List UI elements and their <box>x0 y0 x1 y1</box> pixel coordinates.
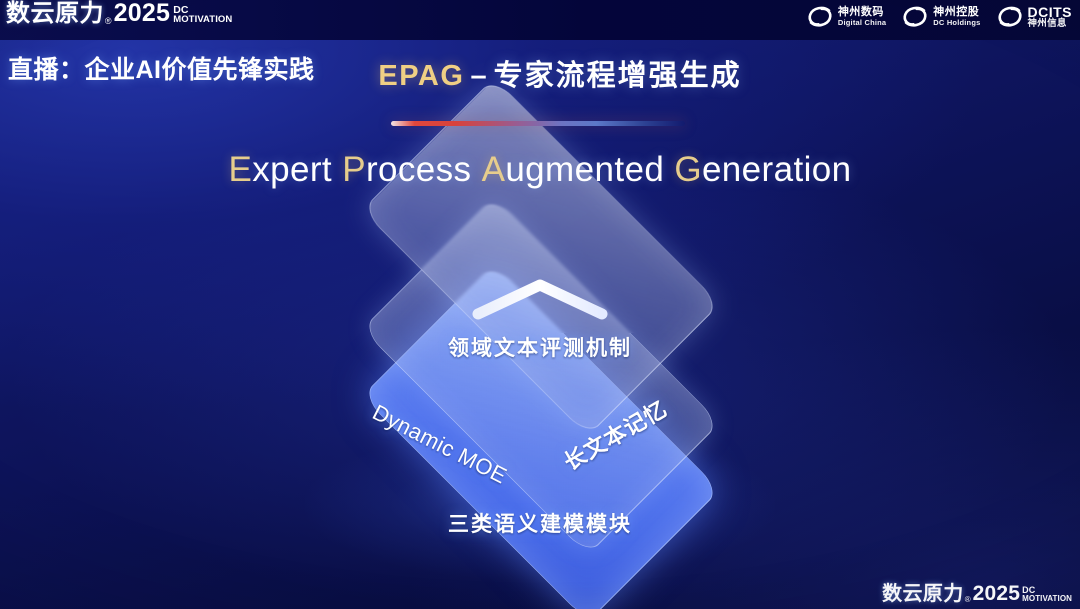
slide-canvas: 领域文本评测机制 Dynamic MOE 长文本记忆 三类语义建模模块 EPAG… <box>0 0 1080 609</box>
brand-logo-tagline: DC MOTIVATION <box>173 5 232 26</box>
partner-text-1: 神州控股DC Holdings <box>933 7 980 26</box>
subtitle-word-2: ugmented <box>505 150 674 189</box>
watermark-motivation: MOTIVATION <box>1022 594 1072 603</box>
watermark-cn: 数云原力 <box>882 584 964 604</box>
brand-logo-motivation: MOTIVATION <box>173 14 232 25</box>
partner-text-2: DCITS神州信息 <box>1028 5 1073 30</box>
title-divider <box>391 121 685 126</box>
subtitle-initial-a: A <box>482 150 506 189</box>
live-strap: 直播：企业AI价值先锋实践 <box>8 50 315 86</box>
title-dash: – <box>470 60 487 92</box>
brand-logo-cn: 数云原力 <box>6 2 104 26</box>
partner-name-en-2: 神州信息 <box>1028 19 1073 29</box>
subtitle-initial-e: E <box>229 150 253 189</box>
subtitle: Expert Process Augmented Generation <box>0 150 1080 190</box>
watermark-tagline: DC MOTIVATION <box>1022 586 1072 604</box>
subtitle-word-3: eneration <box>702 150 852 189</box>
partner-logo-2: DCITS神州信息 <box>997 4 1073 30</box>
swoosh-icon <box>902 4 928 30</box>
watermark-registered: ® <box>965 596 971 604</box>
brand-logo-registered: ® <box>105 17 112 26</box>
brand-logo-year: 2025 <box>114 1 171 26</box>
partner-logo-1: 神州控股DC Holdings <box>902 4 980 30</box>
partner-logo-group: 神州数码Digital China神州控股DC HoldingsDCITS神州信… <box>807 4 1072 30</box>
partner-name-en-0: Digital China <box>838 19 886 27</box>
subtitle-word-0: xpert <box>252 150 342 189</box>
watermark-year: 2025 <box>973 583 1021 604</box>
partner-name-en-1: DC Holdings <box>933 19 980 27</box>
partner-text-0: 神州数码Digital China <box>838 7 886 26</box>
subtitle-initial-g: G <box>674 150 702 189</box>
partner-logo-0: 神州数码Digital China <box>807 4 886 30</box>
swoosh-icon <box>997 4 1023 30</box>
diagram-label-top: 领域文本评测机制 <box>0 332 1080 362</box>
subtitle-initial-p: P <box>342 150 366 189</box>
chevron-up-icon <box>469 276 611 322</box>
diagram-label-bottom: 三类语义建模模块 <box>0 508 1080 538</box>
title-acronym: EPAG <box>378 60 464 92</box>
swoosh-icon <box>807 4 833 30</box>
brand-logo: 数云原力®2025 DC MOTIVATION <box>6 1 232 26</box>
subtitle-word-1: rocess <box>366 150 482 189</box>
title-chinese: 专家流程增强生成 <box>494 60 742 92</box>
brand-watermark: 数云原力®2025 DC MOTIVATION <box>882 583 1072 604</box>
